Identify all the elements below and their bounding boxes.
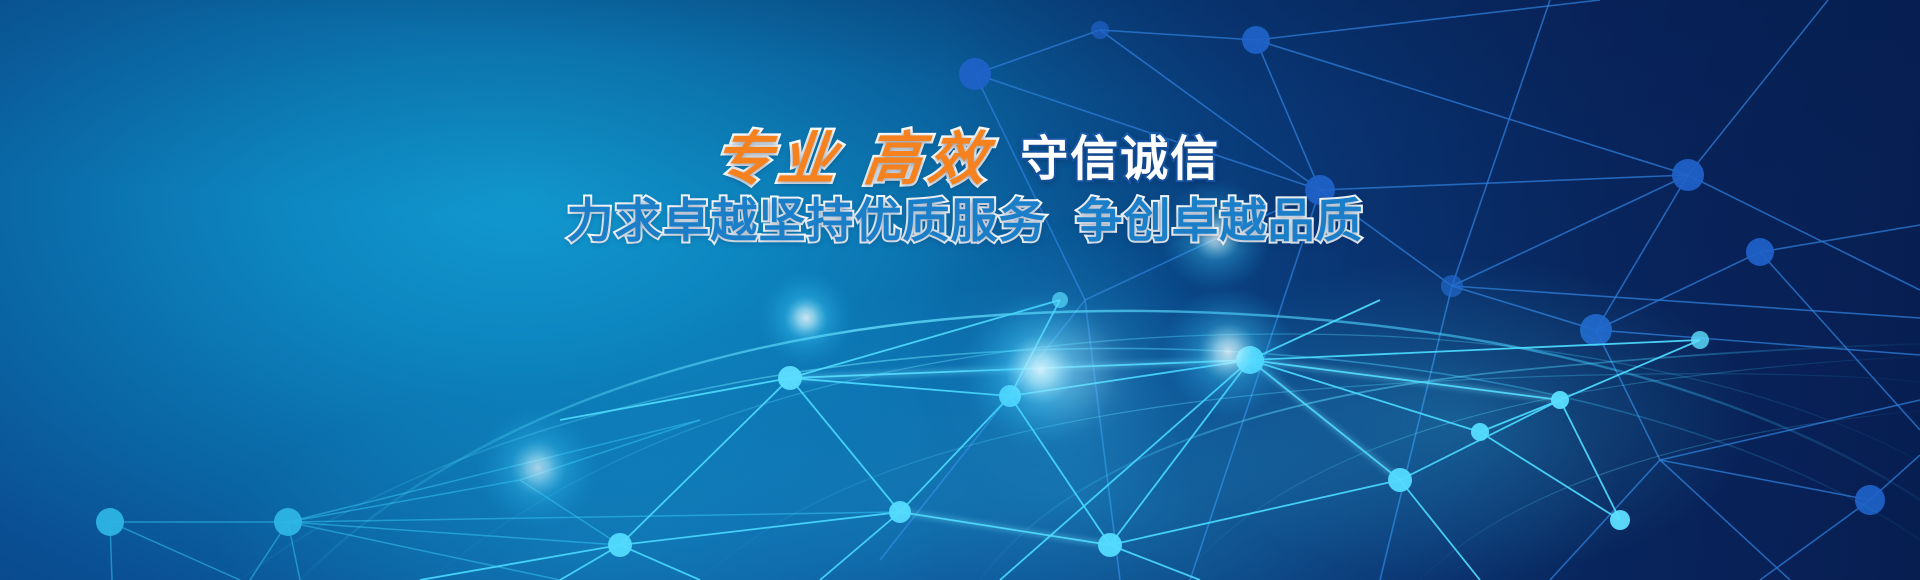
banner-text-block: 专业 高效 守信诚信 力求卓越坚持优质服务 争创卓越品质 bbox=[0, 131, 1920, 244]
hero-banner: 专业 高效 守信诚信 力求卓越坚持优质服务 争创卓越品质 bbox=[0, 0, 1920, 580]
background-lower-glow bbox=[0, 0, 1920, 580]
subline-part-one: 力求卓越坚持优质服务 bbox=[567, 197, 1047, 244]
subline-part-two: 争创卓越品质 bbox=[1075, 197, 1363, 244]
banner-subline: 力求卓越坚持优质服务 争创卓越品质 bbox=[0, 197, 1920, 244]
headline-white-text: 守信诚信 bbox=[1020, 136, 1220, 184]
banner-headline: 专业 高效 守信诚信 bbox=[0, 131, 1920, 189]
headline-orange-text: 专业 高效 bbox=[711, 131, 995, 189]
